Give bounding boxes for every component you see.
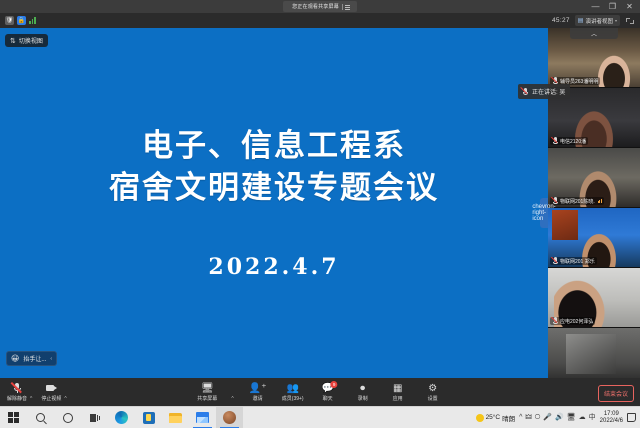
invite-button[interactable]: 👤⁺ 邀请 — [247, 382, 269, 402]
participants-icon: 👥 — [286, 382, 298, 394]
meeting-header-right: 45:27 ▤ 演讲者视图 ▾ — [552, 15, 635, 26]
apps-button[interactable]: ▦ 应用 — [387, 382, 409, 402]
settings-label: 设置 — [428, 395, 438, 402]
meeting-status-icons: 🛡 🔒 — [5, 16, 36, 25]
meeting-app-button[interactable] — [216, 407, 243, 428]
speaking-now-toast: 正在讲话: 吴 — [518, 84, 570, 99]
participant-nametag: 物联网201 郑乐 — [550, 257, 597, 265]
screen-share-icon: 🖥 — [201, 382, 214, 394]
settings-button[interactable]: ⚙ 设置 — [422, 382, 444, 402]
end-meeting-button[interactable]: 结束会议 — [598, 385, 634, 402]
switch-view-icon: ⇅ — [10, 37, 16, 45]
microphone-tray-icon[interactable]: 🎤 — [543, 414, 552, 421]
folder-icon — [169, 413, 182, 423]
window-controls: — ❐ ✕ — [587, 0, 638, 13]
reactions-bar[interactable]: 😀 抬手让... ‹ — [6, 351, 57, 366]
slide-title: 电子、信息工程系 宿舍文明建设专题会议 — [109, 126, 439, 209]
store-button[interactable] — [135, 407, 162, 428]
mic-muted-icon — [552, 317, 558, 325]
task-view-icon — [90, 414, 100, 422]
tray-icons: ^ 🜲 🞅 🎤 🔊 🖥 ☁ 中 — [519, 414, 596, 421]
search-icon — [36, 413, 45, 422]
tray-icon-app2[interactable]: 🞅 — [535, 414, 541, 421]
taskbar-icons — [0, 407, 243, 428]
presentation-slide: 电子、信息工程系 宿舍文明建设专题会议 2022.4.7 — [0, 28, 548, 378]
chevron-down-icon: ▾ — [615, 18, 617, 23]
shared-screen-stage[interactable]: 电子、信息工程系 宿舍文明建设专题会议 2022.4.7 ⇅ 切换视图 😀 抬手… — [0, 28, 548, 378]
fullscreen-icon[interactable] — [625, 16, 635, 26]
toolbar-right-group: 结束会议 — [598, 383, 634, 402]
invite-person-icon: 👤⁺ — [249, 382, 267, 394]
search-button[interactable] — [27, 407, 54, 428]
slide-title-line1: 电子、信息工程系 — [109, 126, 439, 168]
chat-button[interactable]: 💬 9 聊天 — [317, 382, 339, 402]
participant-name: 物联网201 郑乐 — [560, 258, 595, 265]
camera-toggle-button[interactable]: 停止视频 — [40, 382, 62, 402]
clock-date: 2022/4/6 — [600, 418, 623, 424]
sun-icon — [476, 414, 484, 422]
meeting-toolbar: 解除静音 ^ 停止视频 ^ 🖥 共享屏幕 ^ 👤⁺ 邀请 👥 — [0, 378, 640, 406]
view-mode-label: 演讲者视图 — [585, 17, 613, 25]
participant-name: 电信2120潘 — [560, 138, 586, 145]
participant-nametag: 应电202何泽弘 — [550, 317, 595, 325]
tray-icon-app1[interactable]: 🜲 — [525, 414, 531, 421]
weather-temperature: 25°C — [486, 414, 501, 421]
participant-video — [548, 328, 640, 378]
mic-options-chevron-icon[interactable]: ^ — [30, 396, 32, 402]
file-explorer-button[interactable] — [162, 407, 189, 428]
mic-muted-icon — [12, 382, 23, 394]
mic-muted-icon — [552, 137, 558, 145]
reaction-emoji-icon[interactable]: 😀 — [11, 354, 19, 363]
microsoft-store-icon — [143, 412, 155, 424]
edge-button[interactable] — [108, 407, 135, 428]
participant-nametag: 电信2120潘 — [550, 137, 588, 145]
notification-icon[interactable] — [627, 413, 636, 422]
mic-muted-icon — [552, 257, 558, 265]
tencent-meeting-icon — [223, 411, 236, 424]
switch-view-label: 切换视图 — [19, 36, 43, 45]
share-screen-label: 共享屏幕 — [197, 395, 217, 402]
close-button[interactable]: ✕ — [621, 0, 638, 13]
apps-grid-icon: ▦ — [393, 382, 402, 394]
participant-tile[interactable]: 物联网201 郑乐 — [548, 208, 640, 268]
edge-browser-icon — [115, 411, 128, 424]
weather-condition: 晴朗 — [502, 413, 515, 423]
maximize-restore-button[interactable]: ❐ — [604, 0, 621, 13]
record-button[interactable]: ⏺ 录制 — [352, 382, 374, 402]
system-tray: 25°C 晴朗 ^ 🜲 🞅 🎤 🔊 🖥 ☁ 中 17:09 2022/4/6 — [476, 407, 640, 428]
mic-toggle-button[interactable]: 解除静音 — [6, 382, 28, 402]
task-view-button[interactable] — [81, 407, 108, 428]
participant-tile[interactable]: 应电202何泽弘 — [548, 268, 640, 328]
participant-name: 应电202何泽弘 — [560, 318, 593, 325]
windows-logo-icon — [8, 412, 20, 424]
participants-label: 成员(39+) — [282, 395, 304, 402]
reactions-label: 抬手让... — [23, 354, 46, 363]
chat-unread-badge: 9 — [331, 381, 338, 388]
share-options-chevron-icon[interactable]: ^ — [231, 396, 233, 402]
gallery-collapse-handle[interactable]: chevron-right-icon — [540, 198, 548, 228]
view-mode-icon: ▤ — [578, 17, 584, 24]
lock-icon[interactable]: 🔒 — [17, 16, 26, 25]
share-screen-button[interactable]: 🖥 共享屏幕 — [196, 382, 218, 402]
weather-widget[interactable]: 25°C 晴朗 — [476, 413, 516, 423]
onedrive-tray-icon[interactable]: ☁ — [579, 414, 586, 421]
view-mode-selector[interactable]: ▤ 演讲者视图 ▾ — [575, 15, 620, 26]
cortana-circle-icon — [63, 413, 73, 423]
camera-options-chevron-icon[interactable]: ^ — [64, 396, 66, 402]
camera-toggle-label: 停止视频 — [41, 395, 61, 402]
shared-screen-banner[interactable]: 您正在观看共享屏幕 — [283, 1, 357, 12]
signal-icon[interactable] — [29, 17, 36, 24]
participant-gallery[interactable]: ︿ 辅导员263潘明明 电信2120潘 物联网201陈晓. — [548, 28, 640, 378]
network-tray-icon[interactable]: 🖥 — [567, 414, 576, 421]
windows-taskbar: 25°C 晴朗 ^ 🜲 🞅 🎤 🔊 🖥 ☁ 中 17:09 2022/4/6 — [0, 406, 640, 428]
minimize-button[interactable]: — — [587, 0, 604, 13]
participant-tile[interactable] — [548, 328, 640, 378]
speaking-now-label: 正在讲话: 吴 — [532, 87, 565, 96]
slide-date: 2022.4.7 — [208, 254, 339, 280]
mic-muted-icon — [522, 88, 528, 96]
photos-button[interactable] — [189, 407, 216, 428]
shared-screen-banner-label: 您正在观看共享屏幕 — [292, 3, 339, 10]
shield-icon[interactable]: 🛡 — [5, 16, 14, 25]
camera-icon — [46, 382, 57, 394]
participant-tile[interactable]: 物联网201陈晓. — [548, 148, 640, 208]
window-title-bar: 您正在观看共享屏幕 — ❐ ✕ — [0, 0, 640, 13]
meeting-app-window: 您正在观看共享屏幕 — ❐ ✕ 🛡 🔒 45:27 ▤ 演讲者视图 ▾ — [0, 0, 640, 428]
mic-toggle-label: 解除静音 — [7, 395, 27, 402]
volume-tray-icon[interactable]: 🔊 — [555, 414, 564, 421]
start-button[interactable] — [0, 407, 27, 428]
chevron-left-icon[interactable]: ‹ — [50, 356, 52, 362]
toolbar-left-group: 解除静音 ^ 停止视频 ^ — [6, 382, 67, 402]
signal-icon — [598, 199, 602, 203]
switch-view-button[interactable]: ⇅ 切换视图 — [5, 34, 48, 47]
participants-button[interactable]: 👥 成员(39+) — [282, 382, 304, 402]
apps-label: 应用 — [393, 395, 403, 402]
participant-name: 物联网201陈晓. — [560, 198, 595, 205]
meeting-header-bar: 🛡 🔒 45:27 ▤ 演讲者视图 ▾ — [0, 13, 640, 28]
meeting-timer: 45:27 — [552, 17, 570, 24]
participant-nametag: 物联网201陈晓. — [550, 197, 604, 205]
slide-title-line2: 宿舍文明建设专题会议 — [109, 168, 439, 210]
chat-label: 聊天 — [323, 395, 333, 402]
cortana-button[interactable] — [54, 407, 81, 428]
toolbar-center-group: 🖥 共享屏幕 ^ 👤⁺ 邀请 👥 成员(39+) 💬 9 聊天 ⏺ 录制 — [196, 382, 443, 402]
ime-indicator[interactable]: 中 — [589, 414, 596, 421]
invite-label: 邀请 — [253, 395, 263, 402]
photos-icon — [196, 412, 209, 423]
banner-menu-icon[interactable] — [342, 4, 348, 10]
record-icon: ⏺ — [360, 382, 365, 394]
gallery-scroll-up-button[interactable]: ︿ — [570, 28, 618, 39]
gear-icon: ⚙ — [428, 382, 437, 394]
record-label: 录制 — [358, 395, 368, 402]
tray-overflow-icon[interactable]: ^ — [519, 414, 522, 421]
taskbar-clock[interactable]: 17:09 2022/4/6 — [600, 411, 623, 424]
